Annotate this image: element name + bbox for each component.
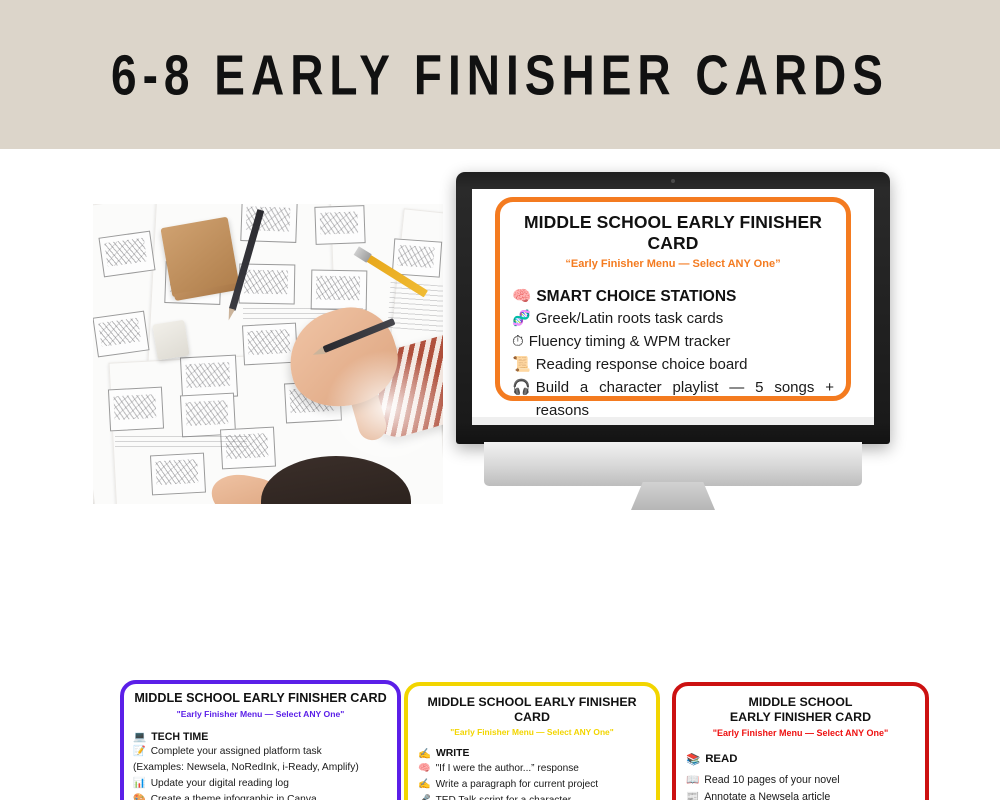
main-stage: MIDDLE SCHOOL EARLY FINISHER CARD “Early…: [0, 149, 1000, 800]
sketch-frame: [150, 453, 206, 496]
list-item: 📜 Reading response choice board: [512, 354, 834, 377]
card-list: 🧠 "If I were the author...” response ✍️ …: [418, 761, 646, 800]
sketch-frame: [392, 238, 442, 277]
monitor-lower-bezel: [484, 442, 862, 486]
page-title: 6-8 EARLY FINISHER CARDS: [111, 42, 889, 108]
monitor-screen-chin: [472, 417, 874, 425]
brain-icon: 🧠: [512, 287, 531, 306]
screen-card-section-label: SMART CHOICE STATIONS: [536, 288, 736, 306]
card-section-label: TECH TIME: [151, 731, 208, 743]
desktop-monitor: MIDDLE SCHOOL EARLY FINISHER CARD “Early…: [456, 172, 890, 477]
palette-icon: 🎨: [133, 792, 146, 800]
sketch-frame: [311, 270, 368, 311]
card-list: 📝 Complete your assigned platform task (…: [133, 744, 388, 800]
list-item-text: Fluency timing & WPM tracker: [529, 331, 834, 354]
list-item: (Examples: Newsela, NoRedInk, i-Ready, A…: [133, 760, 388, 776]
list-item-text: Build a character playlist — 5 songs + r…: [536, 377, 834, 417]
eraser-icon: [152, 320, 189, 361]
card-section-label: READ: [705, 753, 737, 765]
list-item: 🧠 "If I were the author...” response: [418, 761, 646, 777]
card-title-line2: EARLY FINISHER CARD: [686, 710, 915, 725]
list-item-text: Update your digital reading log: [151, 776, 388, 792]
card-title-line1: MIDDLE SCHOOL: [686, 695, 915, 710]
list-item-text: "If I were the author...” response: [436, 761, 646, 777]
list-item: 🎧 Build a character playlist — 5 songs +…: [512, 377, 834, 417]
list-item-text: Write a paragraph for current project: [436, 777, 646, 793]
card-section-label: WRITE: [436, 748, 469, 759]
sketch-frame: [98, 231, 155, 278]
card-title: MIDDLE SCHOOL EARLY FINISHER CARD: [133, 691, 388, 706]
list-item: 📊 Update your digital reading log: [133, 776, 388, 792]
list-item: 🎨 Create a theme infographic in Canva: [133, 792, 388, 800]
list-item-text: TED Talk script for a character: [436, 793, 646, 800]
monitor-screen: MIDDLE SCHOOL EARLY FINISHER CARD “Early…: [472, 189, 874, 417]
sticky-notepad: [160, 217, 239, 298]
card-tech-time: MIDDLE SCHOOL EARLY FINISHER CARD "Early…: [120, 680, 401, 800]
books-icon: 📚: [686, 752, 700, 766]
monitor-stand: [631, 482, 715, 510]
sketch-frame: [93, 311, 150, 358]
writing-hand-icon: ✍️: [418, 777, 431, 793]
card-subtitle: "Early Finisher Menu — Select ANY One": [418, 727, 646, 737]
memo-icon: 📝: [133, 744, 146, 760]
card-section-header: ✍️ WRITE: [418, 747, 646, 760]
card-write: MIDDLE SCHOOL EARLY FINISHER CARD "Early…: [404, 682, 660, 800]
card-subtitle: "Early Finisher Menu — Select ANY One": [133, 709, 388, 719]
screen-card-title: MIDDLE SCHOOL EARLY FINISHER CARD: [512, 212, 834, 253]
microphone-icon: 🎤: [418, 793, 431, 800]
stopwatch-icon: ⏱: [512, 331, 524, 354]
card-title: MIDDLE SCHOOL EARLY FINISHER CARD: [418, 695, 646, 724]
webcam-icon: [671, 179, 675, 183]
screen-card-subtitle: “Early Finisher Menu — Select ANY One”: [512, 258, 834, 271]
list-item-text: Greek/Latin roots task cards: [536, 308, 834, 331]
card-section-header: 📚 READ: [686, 752, 915, 766]
dna-icon: 🧬: [512, 308, 531, 331]
list-item: ✍️ Write a paragraph for current project: [418, 777, 646, 793]
list-item: 📝 Complete your assigned platform task: [133, 744, 388, 760]
list-item-text: (Examples: Newsela, NoRedInk, i-Ready, A…: [133, 760, 388, 776]
screen-card-section: 🧠 SMART CHOICE STATIONS: [512, 287, 834, 306]
brain-icon: 🧠: [418, 761, 431, 777]
list-item: 🎤 TED Talk script for a character: [418, 793, 646, 800]
list-item-text: Create a theme infographic in Canva: [151, 792, 388, 800]
open-book-icon: 📖: [686, 772, 699, 789]
light-glow: [323, 348, 443, 468]
screen-card-list: 🧬 Greek/Latin roots task cards ⏱ Fluency…: [512, 308, 834, 417]
card-read: MIDDLE SCHOOL EARLY FINISHER CARD "Early…: [672, 682, 929, 800]
list-item-text: Read 10 pages of your novel: [704, 772, 915, 789]
list-item-text: Annotate a Newsela article: [704, 789, 915, 800]
list-item: 📰 Annotate a Newsela article: [686, 789, 915, 800]
sketch-frame: [314, 205, 365, 245]
photo-illustration: [93, 204, 443, 504]
headphones-icon: 🎧: [512, 377, 531, 400]
newspaper-icon: 📰: [686, 789, 699, 800]
card-section-header: 💻 TECH TIME: [133, 730, 388, 743]
card-list: 📖 Read 10 pages of your novel 📰 Annotate…: [686, 772, 915, 800]
list-item-text: Complete your assigned platform task: [151, 744, 388, 760]
bar-chart-icon: 📊: [133, 776, 146, 792]
storyboard-photo: [93, 204, 443, 504]
card-subtitle: "Early Finisher Menu — Select ANY One": [686, 728, 915, 739]
monitor-bezel: MIDDLE SCHOOL EARLY FINISHER CARD “Early…: [456, 172, 890, 444]
list-item: 🧬 Greek/Latin roots task cards: [512, 308, 834, 331]
list-item: ⏱ Fluency timing & WPM tracker: [512, 331, 834, 354]
list-item: 📖 Read 10 pages of your novel: [686, 772, 915, 789]
header-band: 6-8 EARLY FINISHER CARDS: [0, 0, 1000, 149]
sketch-frame: [108, 387, 164, 432]
laptop-icon: 💻: [133, 730, 146, 743]
writing-hand-icon: ✍️: [418, 747, 431, 760]
scroll-icon: 📜: [512, 354, 531, 377]
list-item-text: Reading response choice board: [536, 354, 834, 377]
screen-finisher-card: MIDDLE SCHOOL EARLY FINISHER CARD “Early…: [495, 197, 851, 401]
ruled-lines: [115, 436, 247, 450]
